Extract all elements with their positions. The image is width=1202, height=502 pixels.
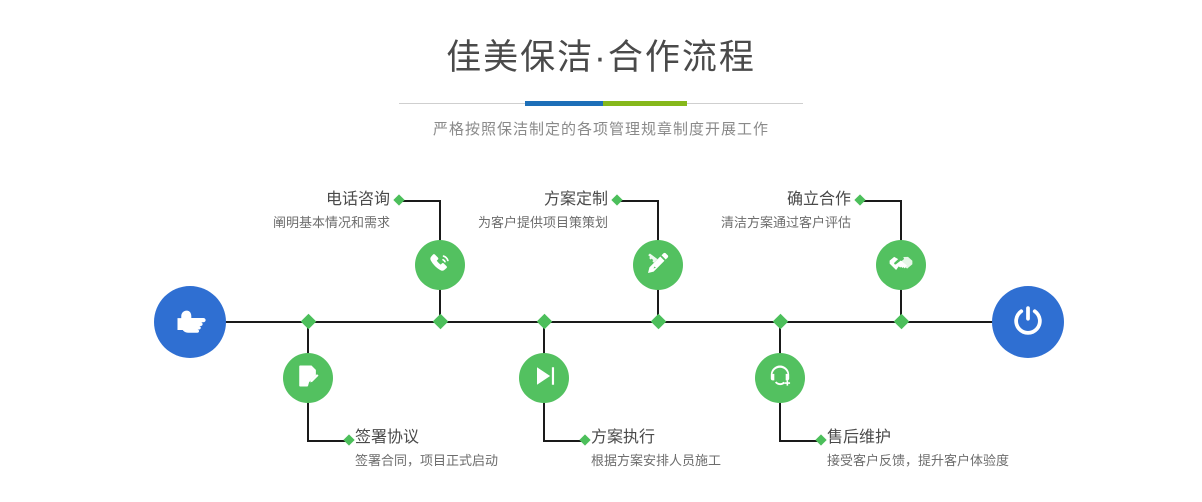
power-icon xyxy=(1008,300,1048,345)
flow-end-node[interactable] xyxy=(992,286,1064,358)
step-title: 方案定制 xyxy=(478,190,608,210)
step-desc: 根据方案安排人员施工 xyxy=(591,452,721,470)
step-icon-circle-top-2[interactable] xyxy=(633,240,683,290)
step-icon-circle-bottom-1[interactable] xyxy=(283,353,333,403)
step-icon-circle-top-1[interactable] xyxy=(415,240,465,290)
play-skip-icon xyxy=(530,362,558,395)
label-marker-bottom-3 xyxy=(815,434,826,445)
axis-marker-bottom-2 xyxy=(537,314,553,330)
step-desc: 接受客户反馈，提升客户体验度 xyxy=(827,452,1009,470)
step-icon-circle-bottom-3[interactable] xyxy=(755,353,805,403)
label-marker-top-3 xyxy=(854,194,865,205)
flow-infographic: 佳美保洁·合作流程 严格按照保洁制定的各项管理规章制度开展工作 xyxy=(0,0,1202,502)
axis-marker-top-3 xyxy=(894,314,910,330)
step-label-bottom-2: 方案执行 根据方案安排人员施工 xyxy=(591,428,721,470)
step-title: 确立合作 xyxy=(721,190,851,210)
step-title: 签署协议 xyxy=(355,428,498,448)
axis-marker-top-1 xyxy=(433,314,449,330)
step-icon-circle-bottom-2[interactable] xyxy=(519,353,569,403)
label-marker-bottom-2 xyxy=(579,434,590,445)
branch-line-top-2-horizontal xyxy=(617,200,659,202)
customer-service-icon xyxy=(766,362,794,395)
step-label-top-3: 确立合作 清洁方案通过客户评估 xyxy=(721,190,851,232)
step-title: 方案执行 xyxy=(591,428,721,448)
branch-line-top-1-horizontal xyxy=(399,200,441,202)
branch-line-top-3-horizontal xyxy=(860,200,902,202)
pointing-hand-icon xyxy=(170,300,210,345)
step-desc: 签署合同，项目正式启动 xyxy=(355,452,498,470)
step-desc: 阐明基本情况和需求 xyxy=(273,214,390,232)
pencil-ruler-icon xyxy=(644,249,672,282)
step-label-bottom-3: 售后维护 接受客户反馈，提升客户体验度 xyxy=(827,428,1009,470)
phone-call-icon xyxy=(426,249,454,282)
label-marker-bottom-1 xyxy=(343,434,354,445)
axis-marker-bottom-3 xyxy=(773,314,789,330)
document-edit-icon xyxy=(294,362,322,395)
axis-marker-top-2 xyxy=(651,314,667,330)
label-marker-top-1 xyxy=(393,194,404,205)
step-icon-circle-top-3[interactable] xyxy=(876,240,926,290)
step-title: 售后维护 xyxy=(827,428,1009,448)
step-label-bottom-1: 签署协议 签署合同，项目正式启动 xyxy=(355,428,498,470)
flow-diagram: 电话咨询 阐明基本情况和需求 方案定制 为客户提供项目策策划 xyxy=(0,0,1202,502)
label-marker-top-2 xyxy=(611,194,622,205)
step-label-top-2: 方案定制 为客户提供项目策策划 xyxy=(478,190,608,232)
step-title: 电话咨询 xyxy=(273,190,390,210)
flow-start-node[interactable] xyxy=(154,286,226,358)
step-label-top-1: 电话咨询 阐明基本情况和需求 xyxy=(273,190,390,232)
step-desc: 清洁方案通过客户评估 xyxy=(721,214,851,232)
step-desc: 为客户提供项目策策划 xyxy=(478,214,608,232)
handshake-icon xyxy=(887,249,915,282)
axis-marker-bottom-1 xyxy=(301,314,317,330)
